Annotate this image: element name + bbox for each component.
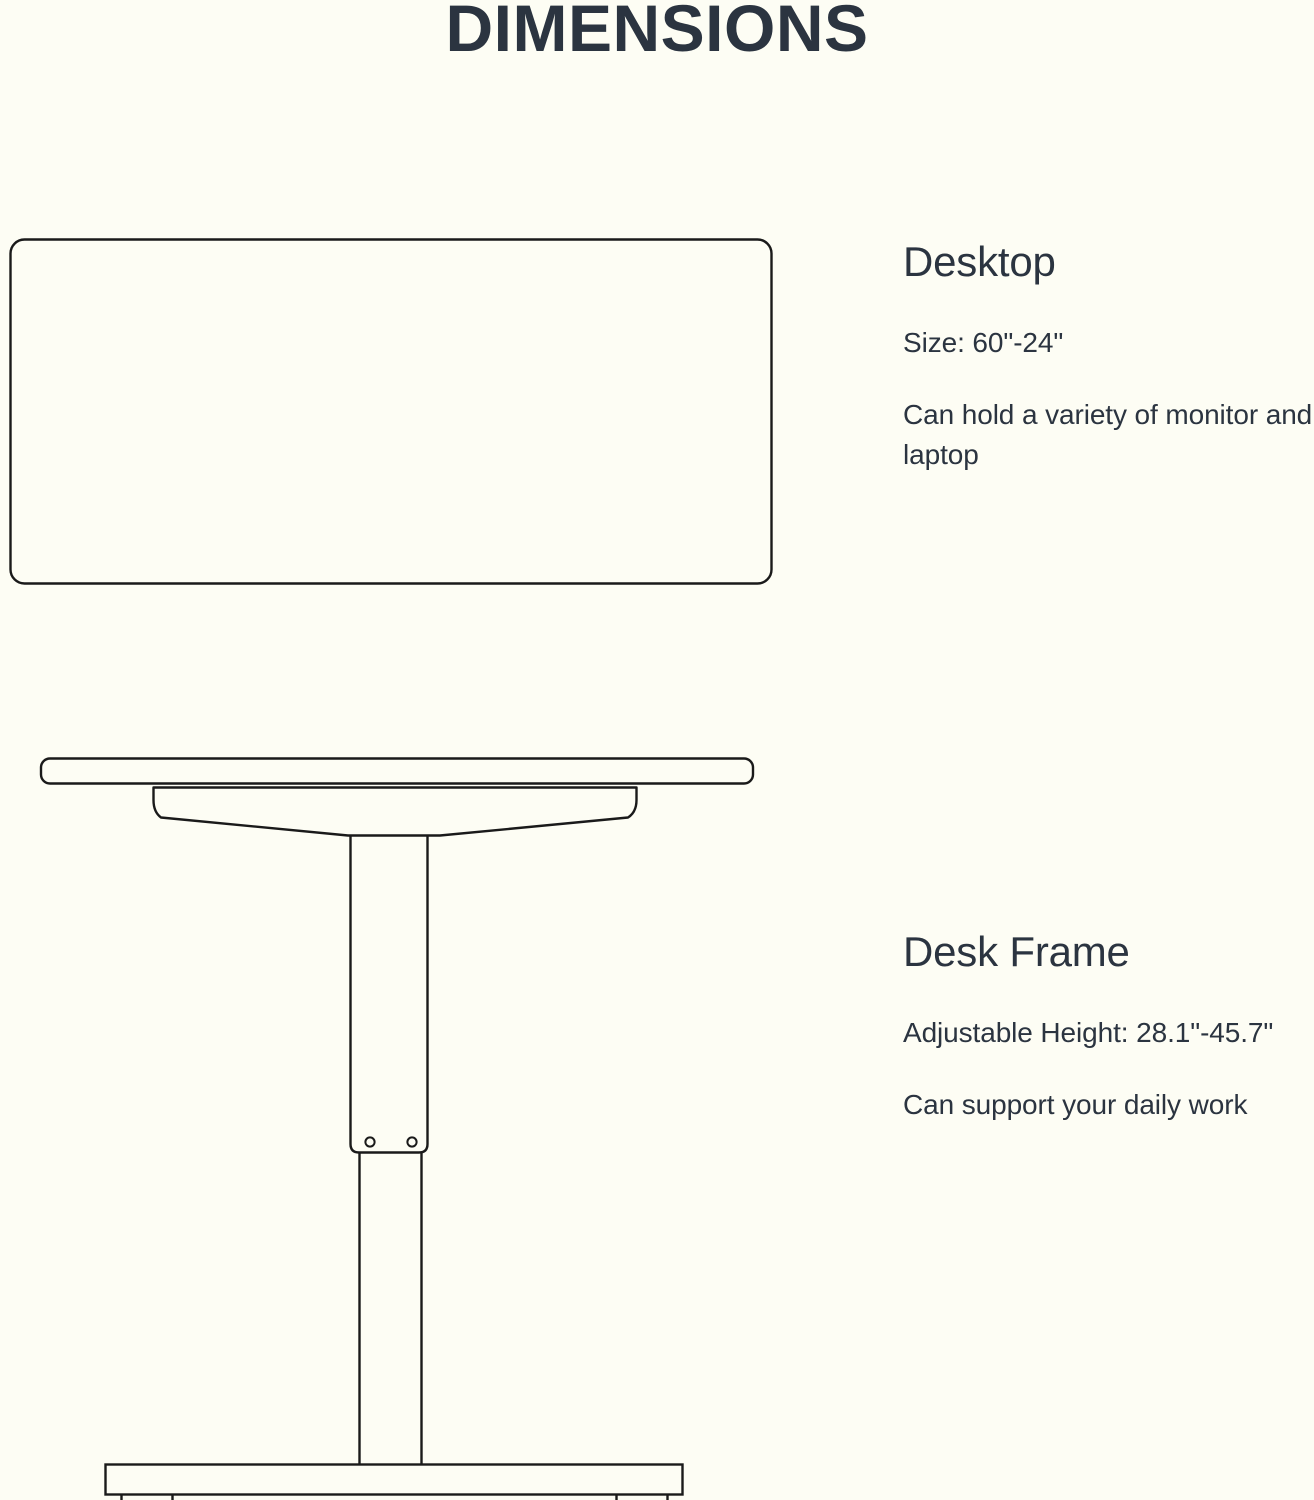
screw-right-icon bbox=[407, 1137, 416, 1146]
diagram-area bbox=[0, 0, 820, 1500]
desk-frame-description: Can support your daily work bbox=[903, 1085, 1314, 1125]
desktop-top-view-outline bbox=[11, 240, 772, 584]
dimensions-page: DIMENSIONS Desktop bbox=[0, 0, 1314, 1500]
desktop-heading: Desktop bbox=[903, 238, 1314, 285]
upper-column bbox=[351, 836, 428, 1153]
desk-frame-height-spec: Adjustable Height: 28.1"-45.7" bbox=[903, 1013, 1314, 1053]
mounting-bracket bbox=[154, 788, 637, 836]
tabletop-slab bbox=[41, 759, 753, 784]
desktop-description: Can hold a variety of monitor and laptop bbox=[903, 395, 1314, 475]
desk-frame-heading: Desk Frame bbox=[903, 928, 1314, 975]
technical-drawings bbox=[0, 0, 820, 1500]
desktop-size-spec: Size: 60"-24" bbox=[903, 323, 1314, 363]
desk-frame-info-block: Desk Frame Adjustable Height: 28.1"-45.7… bbox=[903, 928, 1314, 1125]
screw-left-icon bbox=[365, 1137, 374, 1146]
base-bar bbox=[106, 1465, 683, 1495]
desktop-info-block: Desktop Size: 60"-24" Can hold a variety… bbox=[903, 238, 1314, 474]
